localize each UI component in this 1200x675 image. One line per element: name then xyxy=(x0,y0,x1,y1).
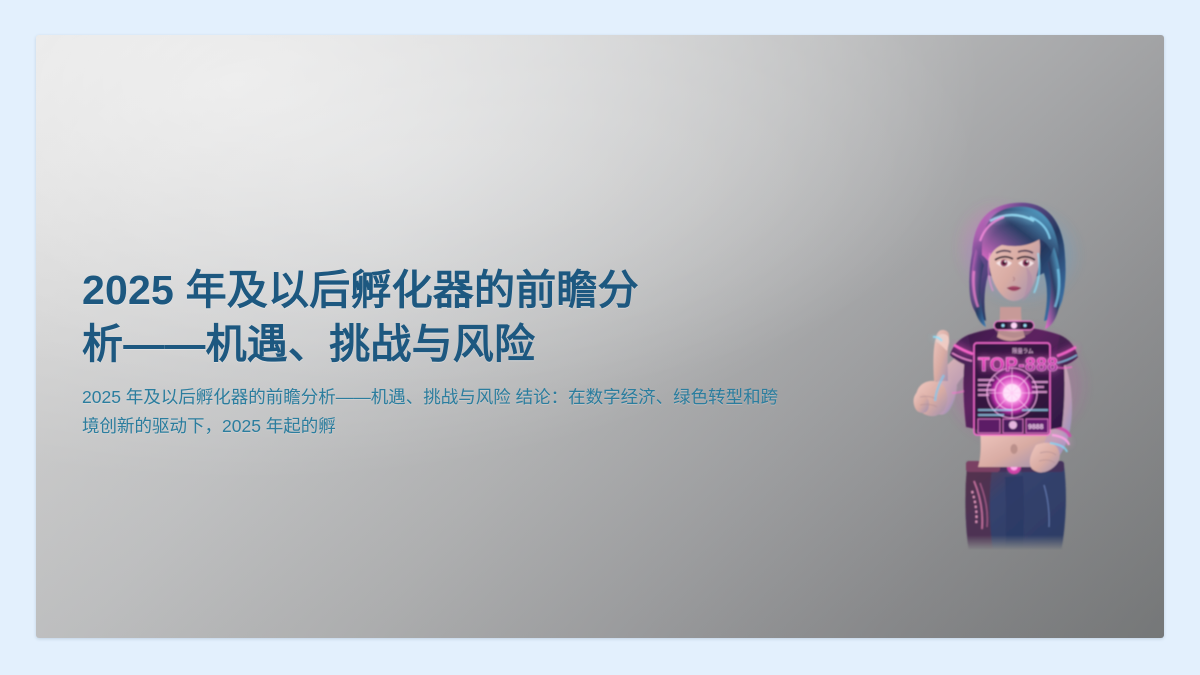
shirt-small-text: 限量ラム xyxy=(1012,347,1034,355)
slide-text-block: 2025 年及以后孵化器的前瞻分 析——机遇、挑战与风险 2025 年及以后孵化… xyxy=(82,263,802,440)
presentation-slide[interactable]: TOP-888 限量ラム xyxy=(36,35,1164,638)
slide-subtitle: 2025 年及以后孵化器的前瞻分析——机遇、挑战与风险 结论：在数字经济、绿色转… xyxy=(82,383,782,440)
page-title: 2025 年及以后孵化器的前瞻分 析——机遇、挑战与风险 xyxy=(82,263,772,371)
shirt-top888-text: TOP-888 xyxy=(978,355,1058,376)
screenshot-viewport: TOP-888 限量ラム xyxy=(0,0,1200,675)
cyberpunk-girl-illustration: TOP-888 限量ラム xyxy=(904,195,1134,550)
svg-text:9888: 9888 xyxy=(1028,424,1044,431)
